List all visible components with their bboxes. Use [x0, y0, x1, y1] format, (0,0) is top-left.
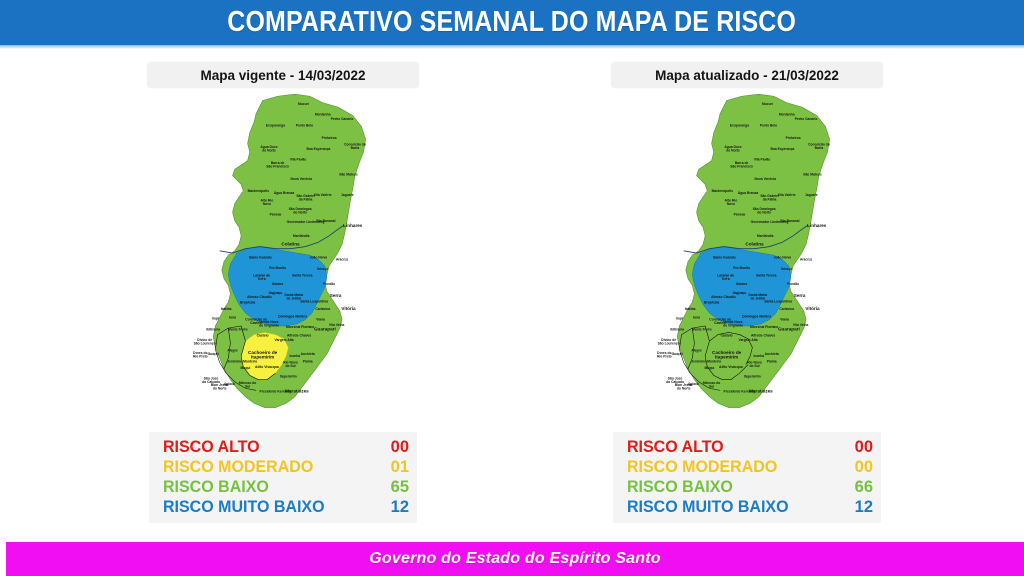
municipality-label: Linhares: [807, 223, 827, 228]
legend-value: 00: [855, 457, 873, 477]
municipality-label: Jerônimo Monteiro: [691, 359, 721, 363]
footer-text: Governo do Estado do Espírito Santo: [369, 550, 660, 568]
municipality-label: Fundão: [787, 282, 799, 286]
municipality-label: Cariacica: [779, 307, 794, 311]
municipality-label: Anchieta: [765, 352, 779, 356]
municipality-label: Muniz Freire: [228, 327, 248, 331]
municipality-label: Pancas: [734, 212, 746, 216]
municipality-label: Santa Teresa: [756, 274, 777, 278]
municipality-label: Ecoporanga: [730, 123, 749, 127]
municipality-label: Boa Esperança: [770, 147, 794, 151]
municipality-label: Presidente Kennedy: [724, 390, 756, 394]
legend-inner-left: RISCO ALTO00RISCO MODERADO01RISCO BAIXO6…: [149, 432, 417, 523]
legend-label: RISCO MODERADO: [163, 457, 313, 477]
municipality-label: Cariacica: [315, 307, 330, 311]
municipality-label: Guaçuí: [672, 352, 684, 356]
municipality-label: Pedro Canário: [795, 117, 818, 121]
municipality-label: Vitória: [341, 306, 356, 311]
municipality-label: Boa Esperança: [306, 147, 330, 151]
municipality-label: Ponto Belo: [760, 123, 777, 127]
municipality-label: Divino deSão Lourenço: [194, 338, 216, 346]
municipality-label: Ibatiba: [221, 307, 232, 311]
municipality-label: Rio Bonito: [269, 266, 286, 270]
municipality-label: Itapemirim: [744, 375, 761, 379]
municipality-label: Jerônimo Monteiro: [227, 359, 257, 363]
municipality-label: Itapemirim: [280, 375, 297, 379]
municipality-label: Rio Bonito: [733, 266, 750, 270]
legend-row: RISCO MUITO BAIXO12: [627, 497, 873, 517]
legend-row: RISCO ALTO00: [163, 437, 409, 457]
municipality-label: Baixo Guandu: [713, 255, 735, 259]
municipality-label: Santa Teresa: [292, 274, 313, 278]
municipality-label: Água Docedo Norte: [724, 144, 741, 153]
municipality-label: São Mateus: [803, 173, 822, 177]
legend-label: RISCO ALTO: [163, 437, 260, 457]
municipality-label: Muqui: [705, 366, 715, 370]
municipality-label: Serra: [794, 293, 806, 298]
municipality-label: Afonso Cláudio: [711, 295, 735, 299]
municipality-label: Vargem Alta: [739, 338, 758, 342]
map-title-box-right: Mapa atualizado - 21/03/2022: [611, 62, 883, 88]
municipality-label: Alegre: [227, 349, 237, 353]
municipality-label: Atílio Vivácqua: [719, 365, 743, 369]
page-title: COMPARATIVO SEMANAL DO MAPA DE RISCO: [228, 6, 797, 39]
legend-label: RISCO MODERADO: [627, 457, 777, 477]
map-title-left: Mapa vigente - 14/03/2022: [200, 68, 365, 83]
panel-map-vigente: Mapa vigente - 14/03/2022 MucuriMontanha…: [48, 52, 518, 532]
municipality-label: Domingos Martins: [278, 314, 307, 318]
legend-value: 12: [855, 497, 873, 517]
municipality-label: Viana: [316, 318, 325, 322]
municipality-label: Dores doRio Preto: [657, 351, 672, 359]
municipality-label: Água Branca: [738, 190, 759, 195]
municipality-label: Pedro Canário: [331, 117, 354, 121]
legend-value: 12: [391, 497, 409, 517]
municipality-label: Montanha: [779, 113, 795, 117]
municipality-label: Rio Bananal: [780, 219, 799, 223]
municipality-label: Marechal Floriano: [286, 325, 314, 329]
municipality-label: Dores doRio Preto: [193, 351, 208, 359]
municipality-label: Vila Valério: [778, 193, 796, 197]
map-left: MucuriMontanhaPedro CanárioEcoporangaPon…: [48, 92, 518, 422]
municipality-label: Água Docedo Norte: [260, 144, 277, 153]
legend-value: 01: [391, 457, 409, 477]
municipality-label: Baixo Guandu: [249, 255, 271, 259]
legend-value: 00: [391, 437, 409, 457]
municipality-label: Apiacá: [224, 382, 235, 386]
municipality-label: Venda Novado Imigrante: [723, 320, 743, 328]
municipality-label: Marilândia: [757, 234, 774, 238]
municipality-label: São Mateus: [339, 173, 358, 177]
municipality-label: Vitória: [805, 306, 820, 311]
municipality-label: Alfredo Chaves: [751, 334, 775, 338]
municipality-label: Ibitirama: [206, 327, 220, 331]
municipality-label: Iconha: [289, 354, 300, 358]
municipality-label: Presidente Kennedy: [260, 390, 292, 394]
legend-label: RISCO ALTO: [627, 437, 724, 457]
legend-row: RISCO BAIXO65: [163, 477, 409, 497]
es-map-svg-left: MucuriMontanhaPedro CanárioEcoporangaPon…: [133, 92, 433, 414]
municipality-label: Apiacá: [688, 382, 699, 386]
municipality-label: Iúna: [229, 315, 236, 319]
municipality-label: João Neiva: [310, 255, 328, 259]
municipality-label: Venda Novado Imigrante: [259, 320, 279, 328]
municipality-label: Aracruz: [800, 258, 813, 262]
municipality-label: Santa Leopoldina: [764, 299, 792, 303]
municipality-label: João Neiva: [774, 255, 792, 259]
municipality-label: Nova Venécia: [291, 177, 313, 181]
municipality-label: Jaguaré: [341, 193, 354, 197]
municipality-label: Colatina: [745, 241, 764, 246]
municipality-label: Viana: [780, 318, 789, 322]
municipality-label: Pinheiros: [322, 136, 337, 140]
municipality-label: Muniz Freire: [692, 327, 712, 331]
municipality-label: Colatina: [281, 241, 300, 246]
municipality-label: Linhares: [343, 223, 363, 228]
municipality-label: Vila Pavão: [290, 158, 307, 162]
map-right: MucuriMontanhaPedro CanárioEcoporangaPon…: [512, 92, 982, 422]
municipality-label: São Gabrielda Palha: [760, 194, 778, 202]
municipality-label: Iconha: [753, 354, 764, 358]
panel-map-atualizado: Mapa atualizado - 21/03/2022 MucuriMonta…: [512, 52, 982, 532]
municipality-label: Cachoeiro deItapemirim: [712, 350, 742, 360]
municipality-label: Cachoeiro deItapemirim: [248, 350, 278, 360]
municipality-label: Mantenópolis: [712, 189, 734, 193]
municipality-label: Piúma: [767, 359, 777, 363]
municipality-label: Ecoporanga: [266, 123, 285, 127]
municipality-label: Itarana: [736, 282, 747, 286]
municipality-label: Fundão: [323, 282, 335, 286]
municipality-label: Ibitirama: [670, 327, 684, 331]
municipality-label: Atílio Vivácqua: [255, 365, 279, 369]
es-map-svg-right: MucuriMontanhaPedro CanárioEcoporangaPon…: [597, 92, 897, 414]
municipality-label: Ponto Belo: [296, 123, 313, 127]
municipality-label: Brejetuba: [704, 300, 719, 304]
municipality-label: Iúna: [693, 315, 700, 319]
municipality-label: Guarapari: [778, 326, 800, 331]
legend-label: RISCO BAIXO: [163, 477, 269, 497]
municipality-label: Pancas: [270, 212, 282, 216]
municipality-label: Alegre: [691, 349, 701, 353]
municipality-label: Pinheiros: [786, 136, 801, 140]
legend-row: RISCO ALTO00: [627, 437, 873, 457]
legend-right: RISCO ALTO00RISCO MODERADO00RISCO BAIXO6…: [512, 432, 982, 527]
municipality-label: Muqui: [241, 366, 251, 370]
municipality-label: Água Branca: [274, 190, 295, 195]
municipality-label: Alfredo Chaves: [287, 334, 311, 338]
municipality-label: Piúma: [303, 359, 313, 363]
municipality-label: Castelo: [257, 334, 269, 338]
header-bar: COMPARATIVO SEMANAL DO MAPA DE RISCO: [0, 0, 1024, 45]
municipality-label: Mucuri: [762, 102, 773, 106]
legend-row: RISCO BAIXO66: [627, 477, 873, 497]
municipality-label: Itarana: [272, 282, 283, 286]
map-title-box-left: Mapa vigente - 14/03/2022: [147, 62, 419, 88]
legend-row: RISCO MODERADO00: [627, 457, 873, 477]
legend-label: RISCO MUITO BAIXO: [627, 497, 789, 517]
legend-left: RISCO ALTO00RISCO MODERADO01RISCO BAIXO6…: [48, 432, 518, 527]
municipality-label: Rio Bananal: [316, 219, 335, 223]
legend-row: RISCO MODERADO01: [163, 457, 409, 477]
municipality-label: Vargem Alta: [275, 338, 294, 342]
legend-row: RISCO MUITO BAIXO12: [163, 497, 409, 517]
legend-value: 00: [855, 437, 873, 457]
municipality-label: Mucuri: [298, 102, 309, 106]
municipality-label: Ibatiba: [685, 307, 696, 311]
municipality-label: Castelo: [721, 334, 733, 338]
municipality-label: Montanha: [315, 113, 331, 117]
municipality-label: Irupi: [212, 317, 219, 321]
municipality-label: Marilândia: [293, 234, 310, 238]
municipality-label: Afonso Cláudio: [247, 295, 271, 299]
municipality-label: Mantenópolis: [248, 189, 270, 193]
legend-value: 65: [391, 477, 409, 497]
municipality-label: Brejetuba: [240, 300, 255, 304]
municipality-label: Ibiraçu: [317, 267, 328, 271]
municipality-label: Vila Valério: [314, 193, 332, 197]
municipality-label: São Gabrielda Palha: [296, 194, 314, 202]
municipality-label: Guaçuí: [208, 352, 220, 356]
municipality-label: Vila Pavão: [754, 158, 771, 162]
map-title-right: Mapa atualizado - 21/03/2022: [655, 68, 839, 83]
municipality-label: Serra: [330, 293, 342, 298]
municipality-label: Nova Venécia: [755, 177, 777, 181]
municipality-label: Santa Leopoldina: [300, 299, 328, 303]
municipality-label: Jaguaré: [805, 193, 818, 197]
municipality-label: Aracruz: [336, 258, 349, 262]
municipality-label: Anchieta: [301, 352, 315, 356]
legend-value: 66: [855, 477, 873, 497]
footer-bar: Governo do Estado do Espírito Santo: [6, 542, 1024, 576]
legend-inner-right: RISCO ALTO00RISCO MODERADO00RISCO BAIXO6…: [613, 432, 881, 523]
municipality-label: Guarapari: [314, 326, 336, 331]
municipality-label: Marechal Floriano: [750, 325, 778, 329]
municipality-label: Divino deSão Lourenço: [658, 338, 680, 346]
municipality-label: Domingos Martins: [742, 314, 771, 318]
legend-label: RISCO BAIXO: [627, 477, 733, 497]
municipality-label: Ibiraçu: [781, 267, 792, 271]
legend-label: RISCO MUITO BAIXO: [163, 497, 325, 517]
municipality-label: Irupi: [676, 317, 683, 321]
